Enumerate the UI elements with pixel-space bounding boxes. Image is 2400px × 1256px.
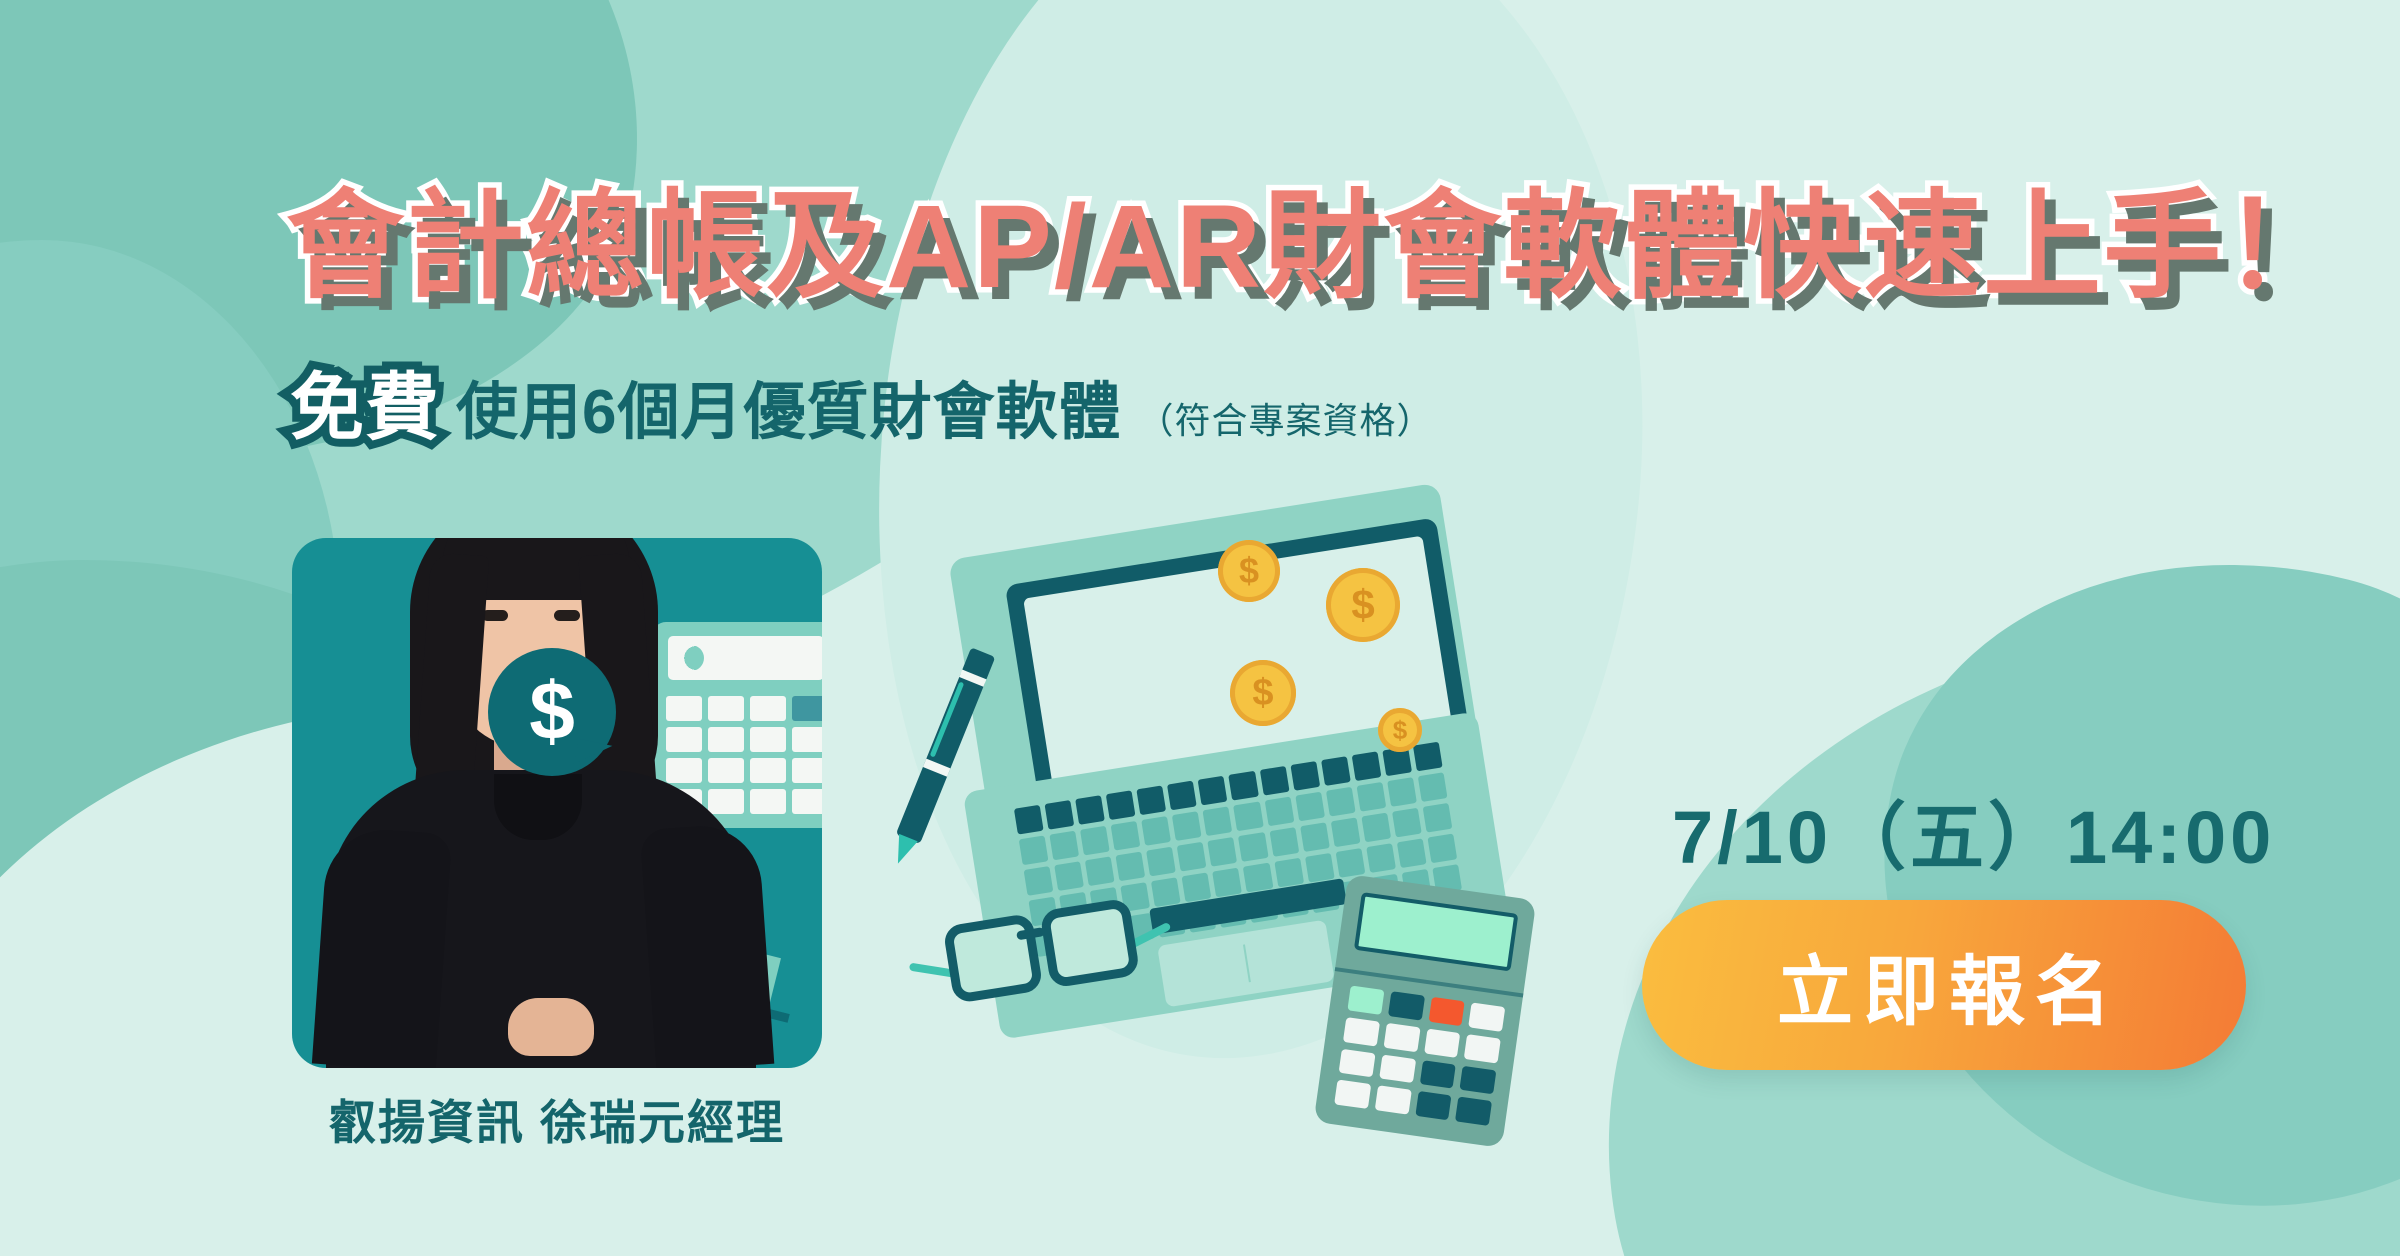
speaker-portrait xyxy=(326,538,756,1068)
glasses-icon xyxy=(941,890,1137,994)
event-datetime: 7/10（五）14:00 xyxy=(1672,778,2275,885)
portrait-hand xyxy=(508,998,594,1056)
glasses-lens xyxy=(1039,898,1140,989)
dollar-sign-glyph: $ xyxy=(488,648,616,776)
calculator-desk-icon xyxy=(1314,874,1537,1148)
calculator-screen xyxy=(1354,892,1519,971)
calculator-buttons xyxy=(1334,985,1505,1126)
subtitle-main-text: 使用6個月優質財會軟體 xyxy=(456,361,1121,451)
subtitle-note-text: （符合專案資格） xyxy=(1137,392,1433,444)
coin-icon: $ xyxy=(1378,708,1422,752)
pen-band xyxy=(923,759,950,777)
portrait-eye xyxy=(482,610,508,621)
portrait-arm-right xyxy=(640,822,775,1068)
register-button[interactable]: 立即報名 xyxy=(1642,900,2246,1070)
speaker-panel: $ xyxy=(292,538,822,1068)
coin-icon: $ xyxy=(1230,660,1296,726)
speaker-card-contents: $ xyxy=(292,538,822,1068)
dollar-speech-bubble-icon: $ xyxy=(488,648,616,776)
desk-illustration: $ $ $ $ xyxy=(900,500,1600,1200)
coin-icon: $ xyxy=(1326,568,1400,642)
register-button-label: 立即報名 xyxy=(1767,930,2121,1040)
portrait-arm-left xyxy=(312,826,452,1068)
free-badge: 免費 xyxy=(290,348,440,455)
coin-icon: $ xyxy=(1218,540,1280,602)
glasses-lens xyxy=(942,913,1043,1004)
speaker-caption: 叡揚資訊 徐瑞元經理 xyxy=(292,1084,822,1153)
subtitle: 免費 使用6個月優質財會軟體 （符合專案資格） xyxy=(290,348,1434,455)
portrait-eye xyxy=(554,610,580,621)
headline: 會計總帳及AP/AR財會軟體快速上手！ xyxy=(286,185,2343,310)
promo-banner: 會計總帳及AP/AR財會軟體快速上手！ 免費 使用6個月優質財會軟體 （符合專案… xyxy=(0,0,2400,1256)
